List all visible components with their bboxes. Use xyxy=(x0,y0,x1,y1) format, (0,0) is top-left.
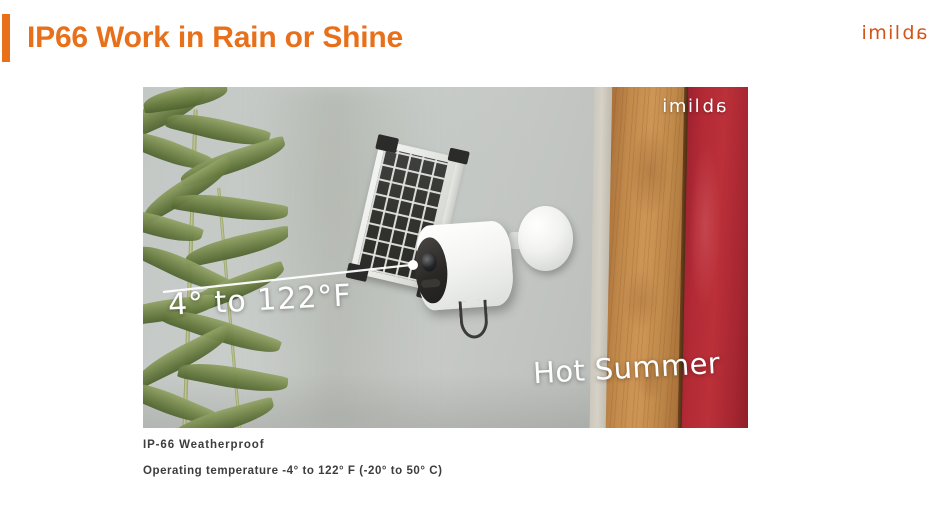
security-camera xyxy=(415,220,514,312)
title-accent-bar xyxy=(2,14,10,62)
brand-logo-main: imil xyxy=(862,22,902,44)
camera-lens xyxy=(421,252,437,273)
caption-operating-temperature: Operating temperature -4° to 122° F (-20… xyxy=(143,464,783,478)
photo-imilab-watermark: imilab xyxy=(662,96,727,117)
caption-block: IP-66 Weatherproof Operating temperature… xyxy=(143,438,783,478)
caption-weatherproof: IP-66 Weatherproof xyxy=(143,438,783,452)
red-door-sheen xyxy=(688,144,722,307)
camera-mount-ball xyxy=(509,206,573,271)
imilab-brand-logo: imilab xyxy=(862,22,928,44)
bamboo-plant xyxy=(143,87,288,428)
watermark-main: imil xyxy=(662,96,701,117)
page-title: IP66 Work in Rain or Shine xyxy=(27,16,403,60)
mount-ball xyxy=(518,206,573,271)
camera-sensor-strip xyxy=(421,279,440,288)
brand-logo-flipped: ab xyxy=(901,22,928,44)
watermark-flipped: ab xyxy=(701,96,727,117)
bamboo-leaf xyxy=(171,188,288,227)
slide-header: IP66 Work in Rain or Shine imilab xyxy=(0,0,950,78)
product-photo: 4° to 122°F Hot Summer imilab xyxy=(143,87,748,428)
